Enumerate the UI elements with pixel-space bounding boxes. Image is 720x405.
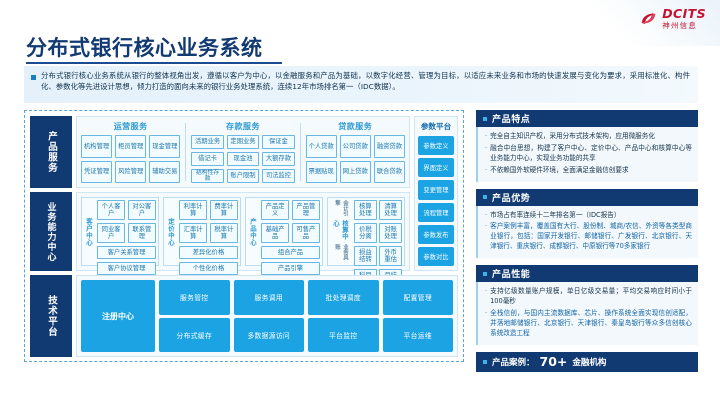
- title-underline: [26, 62, 282, 64]
- capability-center-pricing: 定价中心 利率计算 费率计算 汇率计算 税率计算 差异化价格: [163, 197, 241, 266]
- list-item: · 市场占有率连续十二年排名第一（IDC报告）: [485, 211, 692, 221]
- chip-item[interactable]: 借记卡: [191, 152, 223, 166]
- card-product-performance: 产品性能 · 支持亿级数量账户规模，单日亿级交易量；平均交易响应时间小于100毫…: [476, 265, 698, 344]
- list-item-text: 市场占有率连续十二年排名第一（IDC报告）: [490, 211, 692, 221]
- case-summary-bar: 产品案例： 70+ 金融机构: [476, 352, 698, 372]
- side-label-capability-center: 业务能力中心: [30, 192, 72, 271]
- capability-center-name: 产品中心: [248, 200, 259, 263]
- capability-center-name: 核算中心: [332, 220, 350, 243]
- tech-item[interactable]: 平台运维: [383, 318, 454, 353]
- tech-platform-row: 技术平台 注册中心 服务管控 分布式缓存 服务调用 多数据源访问 批处理调度 平…: [30, 275, 458, 357]
- side-label-tech-platform: 技术平台: [30, 275, 72, 357]
- case-number: 70+: [540, 354, 568, 369]
- service-group-title: 贷款服务: [306, 121, 405, 132]
- chip-item[interactable]: 票据贴现: [306, 161, 337, 184]
- chip-item[interactable]: 大额存款: [262, 152, 294, 166]
- tech-item[interactable]: 批处理调度: [308, 280, 379, 315]
- chip-item[interactable]: 账户限制: [227, 169, 259, 183]
- chip-item[interactable]: 现金管理: [149, 135, 180, 158]
- tech-item[interactable]: 服务管控: [159, 280, 230, 315]
- chip-item[interactable]: 公司贷款: [340, 135, 371, 158]
- param-platform-panel: 参数平台 参数定义 界面定义 变更管理 流程管理 参数发布 参数对比: [414, 116, 458, 271]
- intro-text: 分布式银行核心业务系统从银行的整体视角出发，遵循以客户为中心，以金融服务和产品为…: [41, 70, 690, 99]
- case-suffix: 金融机构: [572, 356, 606, 368]
- chip-item[interactable]: 同业客户: [97, 223, 125, 243]
- list-item-text: 客户案例丰富，覆盖国有大行、股份制、城商/农信、外资等各类型商业银行，包括：国家…: [490, 222, 692, 252]
- card-body: · 支持亿级数量账户规模，单日亿级交易量；平均交易响应时间小于100毫秒 · 全…: [476, 282, 698, 344]
- param-platform-title: 参数平台: [418, 121, 454, 132]
- card-header: 产品性能: [476, 265, 698, 282]
- chip-item[interactable]: 个人贷款: [306, 135, 337, 158]
- service-group-title: 存款服务: [191, 121, 294, 132]
- chip-item[interactable]: 个人客户: [97, 200, 125, 220]
- chip-item[interactable]: 柜员管理: [115, 135, 146, 158]
- card-body: · 完全自主知识产权，采用分布式技术架构，应用微服务化 · 融合中台思想，构建了…: [476, 127, 698, 182]
- tech-item[interactable]: 服务调用: [234, 280, 305, 315]
- chip-item[interactable]: 对公客户: [128, 200, 156, 220]
- dcits-swirl-icon: [639, 9, 658, 28]
- logo-text-cn: 神州信息: [662, 22, 706, 30]
- dot-bullet-icon: ·: [485, 287, 487, 307]
- card-header: 产品优势: [476, 189, 698, 206]
- service-group-operations: 运营服务 机构管理 凭证管理 柜员管理 风险管理 现金管理 辅助交易: [81, 121, 180, 183]
- product-service-panel: 运营服务 机构管理 凭证管理 柜员管理 风险管理 现金管理 辅助交易: [76, 116, 410, 188]
- square-bullet-icon: [483, 117, 487, 121]
- dot-bullet-icon: ·: [485, 309, 487, 339]
- list-item-text: 全栈信创，与国内主流数据库、芯片、操作系统全面实现信创适配，并落地邮储银行、北京…: [490, 309, 692, 339]
- chip-item[interactable]: 价税分离: [354, 223, 377, 243]
- chip-item[interactable]: 基础产品: [261, 223, 289, 243]
- square-bullet-icon: [483, 195, 487, 199]
- chip-item[interactable]: 辅助交易: [149, 161, 180, 184]
- square-bullet-icon: [483, 360, 487, 364]
- capability-center-product: 产品中心 产品定义 产品管理 基础产品 可售产品 组合产品: [245, 197, 323, 266]
- chip-item[interactable]: 产品定义: [261, 200, 289, 220]
- card-title: 产品性能: [492, 267, 530, 280]
- tech-register-center[interactable]: 注册中心: [81, 280, 155, 352]
- list-item-text: 支持亿级数量账户规模，单日亿级交易量；平均交易响应时间小于100毫秒: [490, 287, 692, 307]
- right-info-column: 产品特点 · 完全自主知识产权，采用分布式技术架构，应用微服务化 · 融合中台思…: [476, 110, 698, 372]
- tech-item[interactable]: 多数据源访问: [234, 318, 305, 353]
- capability-center-name: 定价中心: [166, 200, 177, 263]
- card-product-advantages: 产品优势 · 市场占有率连续十二年排名第一（IDC报告） · 客户案例丰富，覆盖…: [476, 189, 698, 259]
- group-divider: [300, 123, 301, 181]
- dot-bullet-icon: ·: [485, 144, 487, 164]
- dot-bullet-icon: ·: [485, 166, 487, 176]
- slide-page: DCITS 神州信息 分布式银行核心业务系统 分布式银行核心业务系统从银行的整体…: [0, 0, 720, 405]
- capability-center-name-group: 会计引擎 核算中心 业务具账: [330, 200, 352, 263]
- param-item[interactable]: 流程管理: [418, 203, 454, 222]
- chip-item[interactable]: 可售产品: [292, 223, 320, 243]
- square-bullet-icon: [31, 75, 36, 80]
- chip-item[interactable]: 网上贷款: [340, 161, 371, 184]
- capability-panel: 客户中心 个人客户 对公客户 同业客户 联系管理 客户关系管理: [76, 192, 410, 271]
- param-item[interactable]: 参数对比: [418, 247, 454, 266]
- chip-item[interactable]: 客户协议管理: [97, 262, 156, 275]
- list-item: · 不依赖国外软硬件环境，全面满足金融信创要求: [485, 166, 692, 176]
- dot-bullet-icon: ·: [485, 132, 487, 142]
- param-item[interactable]: 界面定义: [418, 158, 454, 177]
- capability-center-accounting: 会计引擎 核算中心 业务具账 核算处理 清算处理 价税分离 对账处理: [327, 197, 405, 266]
- chip-item[interactable]: 核算处理: [354, 200, 377, 220]
- chip-item[interactable]: 融资贷款: [374, 135, 405, 158]
- card-product-features: 产品特点 · 完全自主知识产权，采用分布式技术架构，应用微服务化 · 融合中台思…: [476, 110, 698, 182]
- list-item: · 客户案例丰富，覆盖国有大行、股份制、城商/农信、外资等各类型商业银行，包括：…: [485, 222, 692, 252]
- accounting-sub-left: 会计引擎: [333, 200, 349, 219]
- capability-center-customer: 客户中心 个人客户 对公客户 同业客户 联系管理 客户关系管理: [81, 197, 159, 266]
- chip-item[interactable]: 机构管理: [81, 135, 112, 158]
- chip-item[interactable]: 定期业务: [227, 135, 259, 149]
- param-item[interactable]: 参数发布: [418, 225, 454, 244]
- side-label-product-service: 产品服务: [30, 116, 72, 188]
- list-item-text: 不依赖国外软硬件环境，全面满足金融信创要求: [490, 166, 692, 176]
- chip-item[interactable]: 风险管理: [115, 161, 146, 184]
- chip-item[interactable]: 司法监控: [262, 169, 294, 183]
- list-item-text: 完全自主知识产权，采用分布式技术架构，应用微服务化: [490, 132, 692, 142]
- param-item[interactable]: 参数定义: [418, 136, 454, 155]
- list-item: · 完全自主知识产权，采用分布式技术架构，应用微服务化: [485, 132, 692, 142]
- chip-item[interactable]: 对账处理: [379, 223, 402, 243]
- chip-item[interactable]: 费率计算: [210, 200, 238, 220]
- chip-item[interactable]: 外币重估: [379, 246, 402, 266]
- chip-item[interactable]: 个性化价格: [179, 262, 238, 275]
- tech-item[interactable]: 平台监控: [308, 318, 379, 353]
- square-bullet-icon: [483, 272, 487, 276]
- dot-bullet-icon: ·: [485, 222, 487, 252]
- chip-item[interactable]: 客户关系管理: [97, 246, 156, 259]
- card-header: 产品特点: [476, 110, 698, 127]
- group-divider: [185, 123, 186, 181]
- capability-center-name: 客户中心: [84, 200, 95, 263]
- page-title: 分布式银行核心业务系统: [26, 32, 263, 62]
- dot-bullet-icon: ·: [485, 211, 487, 221]
- list-item: · 全栈信创，与国内主流数据库、芯片、操作系统全面实现信创适配，并落地邮储银行、…: [485, 309, 692, 339]
- list-item: · 融合中台思想，构建了客户中心、定价中心、产品中心和核算中心等业务能力中心，实…: [485, 144, 692, 164]
- tech-item[interactable]: 分布式缓存: [159, 318, 230, 353]
- chip-item[interactable]: 税率计算: [210, 223, 238, 243]
- case-label: 产品案例：: [492, 356, 535, 368]
- architecture-diagram: 产品服务 运营服务 机构管理 凭证管理 柜员管理 风险管理: [24, 110, 464, 362]
- tech-platform-panel: 注册中心 服务管控 分布式缓存 服务调用 多数据源访问 批处理调度 平台监控 配…: [76, 275, 458, 357]
- accounting-sub-right: 业务具账: [333, 244, 349, 263]
- service-group-loan: 贷款服务 个人贷款 票据贴现 公司贷款 网上贷款 融资贷款 联合贷款: [306, 121, 405, 183]
- card-title: 产品优势: [492, 191, 530, 204]
- service-group-title: 运营服务: [81, 121, 180, 132]
- chip-item[interactable]: 活期业务: [191, 135, 223, 149]
- chip-item[interactable]: 汇率计算: [179, 223, 207, 243]
- chip-item[interactable]: 联合贷款: [374, 161, 405, 184]
- product-service-row: 产品服务 运营服务 机构管理 凭证管理 柜员管理 风险管理: [30, 116, 458, 188]
- chip-item[interactable]: 组合产品: [261, 246, 320, 259]
- card-title: 产品特点: [492, 112, 530, 125]
- chip-item[interactable]: 联系管理: [128, 223, 156, 243]
- chip-item[interactable]: 差异化价格: [179, 246, 238, 259]
- logo-text-en: DCITS: [662, 8, 706, 21]
- param-item[interactable]: 变更管理: [418, 180, 454, 199]
- chip-item[interactable]: 清算处理: [379, 200, 402, 220]
- chip-item[interactable]: 结构性存款: [191, 169, 223, 183]
- tech-item[interactable]: 配置管理: [383, 280, 454, 315]
- chip-item[interactable]: 利率计算: [179, 200, 207, 220]
- capability-row: 业务能力中心 客户中心 个人客户 对公客户 同业客户 联系管理: [30, 192, 410, 271]
- intro-band: 分布式银行核心业务系统从银行的整体视角出发，遵循以客户为中心，以金融服务和产品为…: [24, 66, 698, 103]
- chip-item[interactable]: 现金池: [227, 152, 259, 166]
- chip-item[interactable]: 凭证管理: [81, 161, 112, 184]
- brand-logo: DCITS 神州信息: [639, 8, 706, 29]
- chip-item[interactable]: 保证金: [262, 135, 294, 149]
- card-body: · 市场占有率连续十二年排名第一（IDC报告） · 客户案例丰富，覆盖国有大行、…: [476, 206, 698, 259]
- list-item: · 支持亿级数量账户规模，单日亿级交易量；平均交易响应时间小于100毫秒: [485, 287, 692, 307]
- chip-item[interactable]: 产品管理: [292, 200, 320, 220]
- chip-item[interactable]: 产品引擎: [261, 262, 320, 275]
- chip-item[interactable]: 损益结转: [354, 246, 377, 266]
- list-item-text: 融合中台思想，构建了客户中心、定价中心、产品中心和核算中心等业务能力中心，实现业…: [490, 144, 692, 164]
- service-group-deposit: 存款服务 活期业务 借记卡 结构性存款 定期业务 现金池 账户限制: [191, 121, 294, 183]
